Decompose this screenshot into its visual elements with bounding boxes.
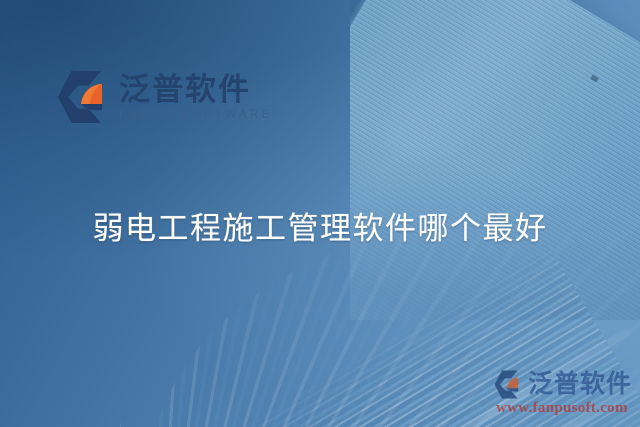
- glass-tower-graphic: [350, 0, 640, 320]
- fanpu-hexagon-swoosh-icon: [494, 370, 522, 399]
- watermark-url: www.fanpusoft.com: [496, 400, 628, 417]
- headline-title: 弱电工程施工管理软件哪个最好: [0, 203, 640, 248]
- promo-banner: 泛普软件 FANPU SOFTWARE 弱电工程施工管理软件哪个最好 泛普软件 …: [0, 0, 640, 427]
- tower-facade-detail: [590, 75, 599, 83]
- brand-logo: 泛普软件 FANPU SOFTWARE: [57, 70, 273, 124]
- watermark-name-cn: 泛普软件: [528, 372, 632, 397]
- watermark-logo-row: 泛普软件: [494, 370, 632, 399]
- watermark-block: 泛普软件 www.fanpusoft.com: [494, 370, 632, 417]
- brand-name-en: FANPU SOFTWARE: [119, 109, 273, 121]
- tower-facade: [350, 0, 640, 320]
- tower-sky-blend: [350, 0, 640, 320]
- brand-text-block: 泛普软件 FANPU SOFTWARE: [119, 73, 273, 121]
- brand-name-cn: 泛普软件: [119, 73, 273, 106]
- fanpu-hexagon-swoosh-icon: [57, 70, 109, 124]
- tower-edge-highlight: [350, 0, 422, 320]
